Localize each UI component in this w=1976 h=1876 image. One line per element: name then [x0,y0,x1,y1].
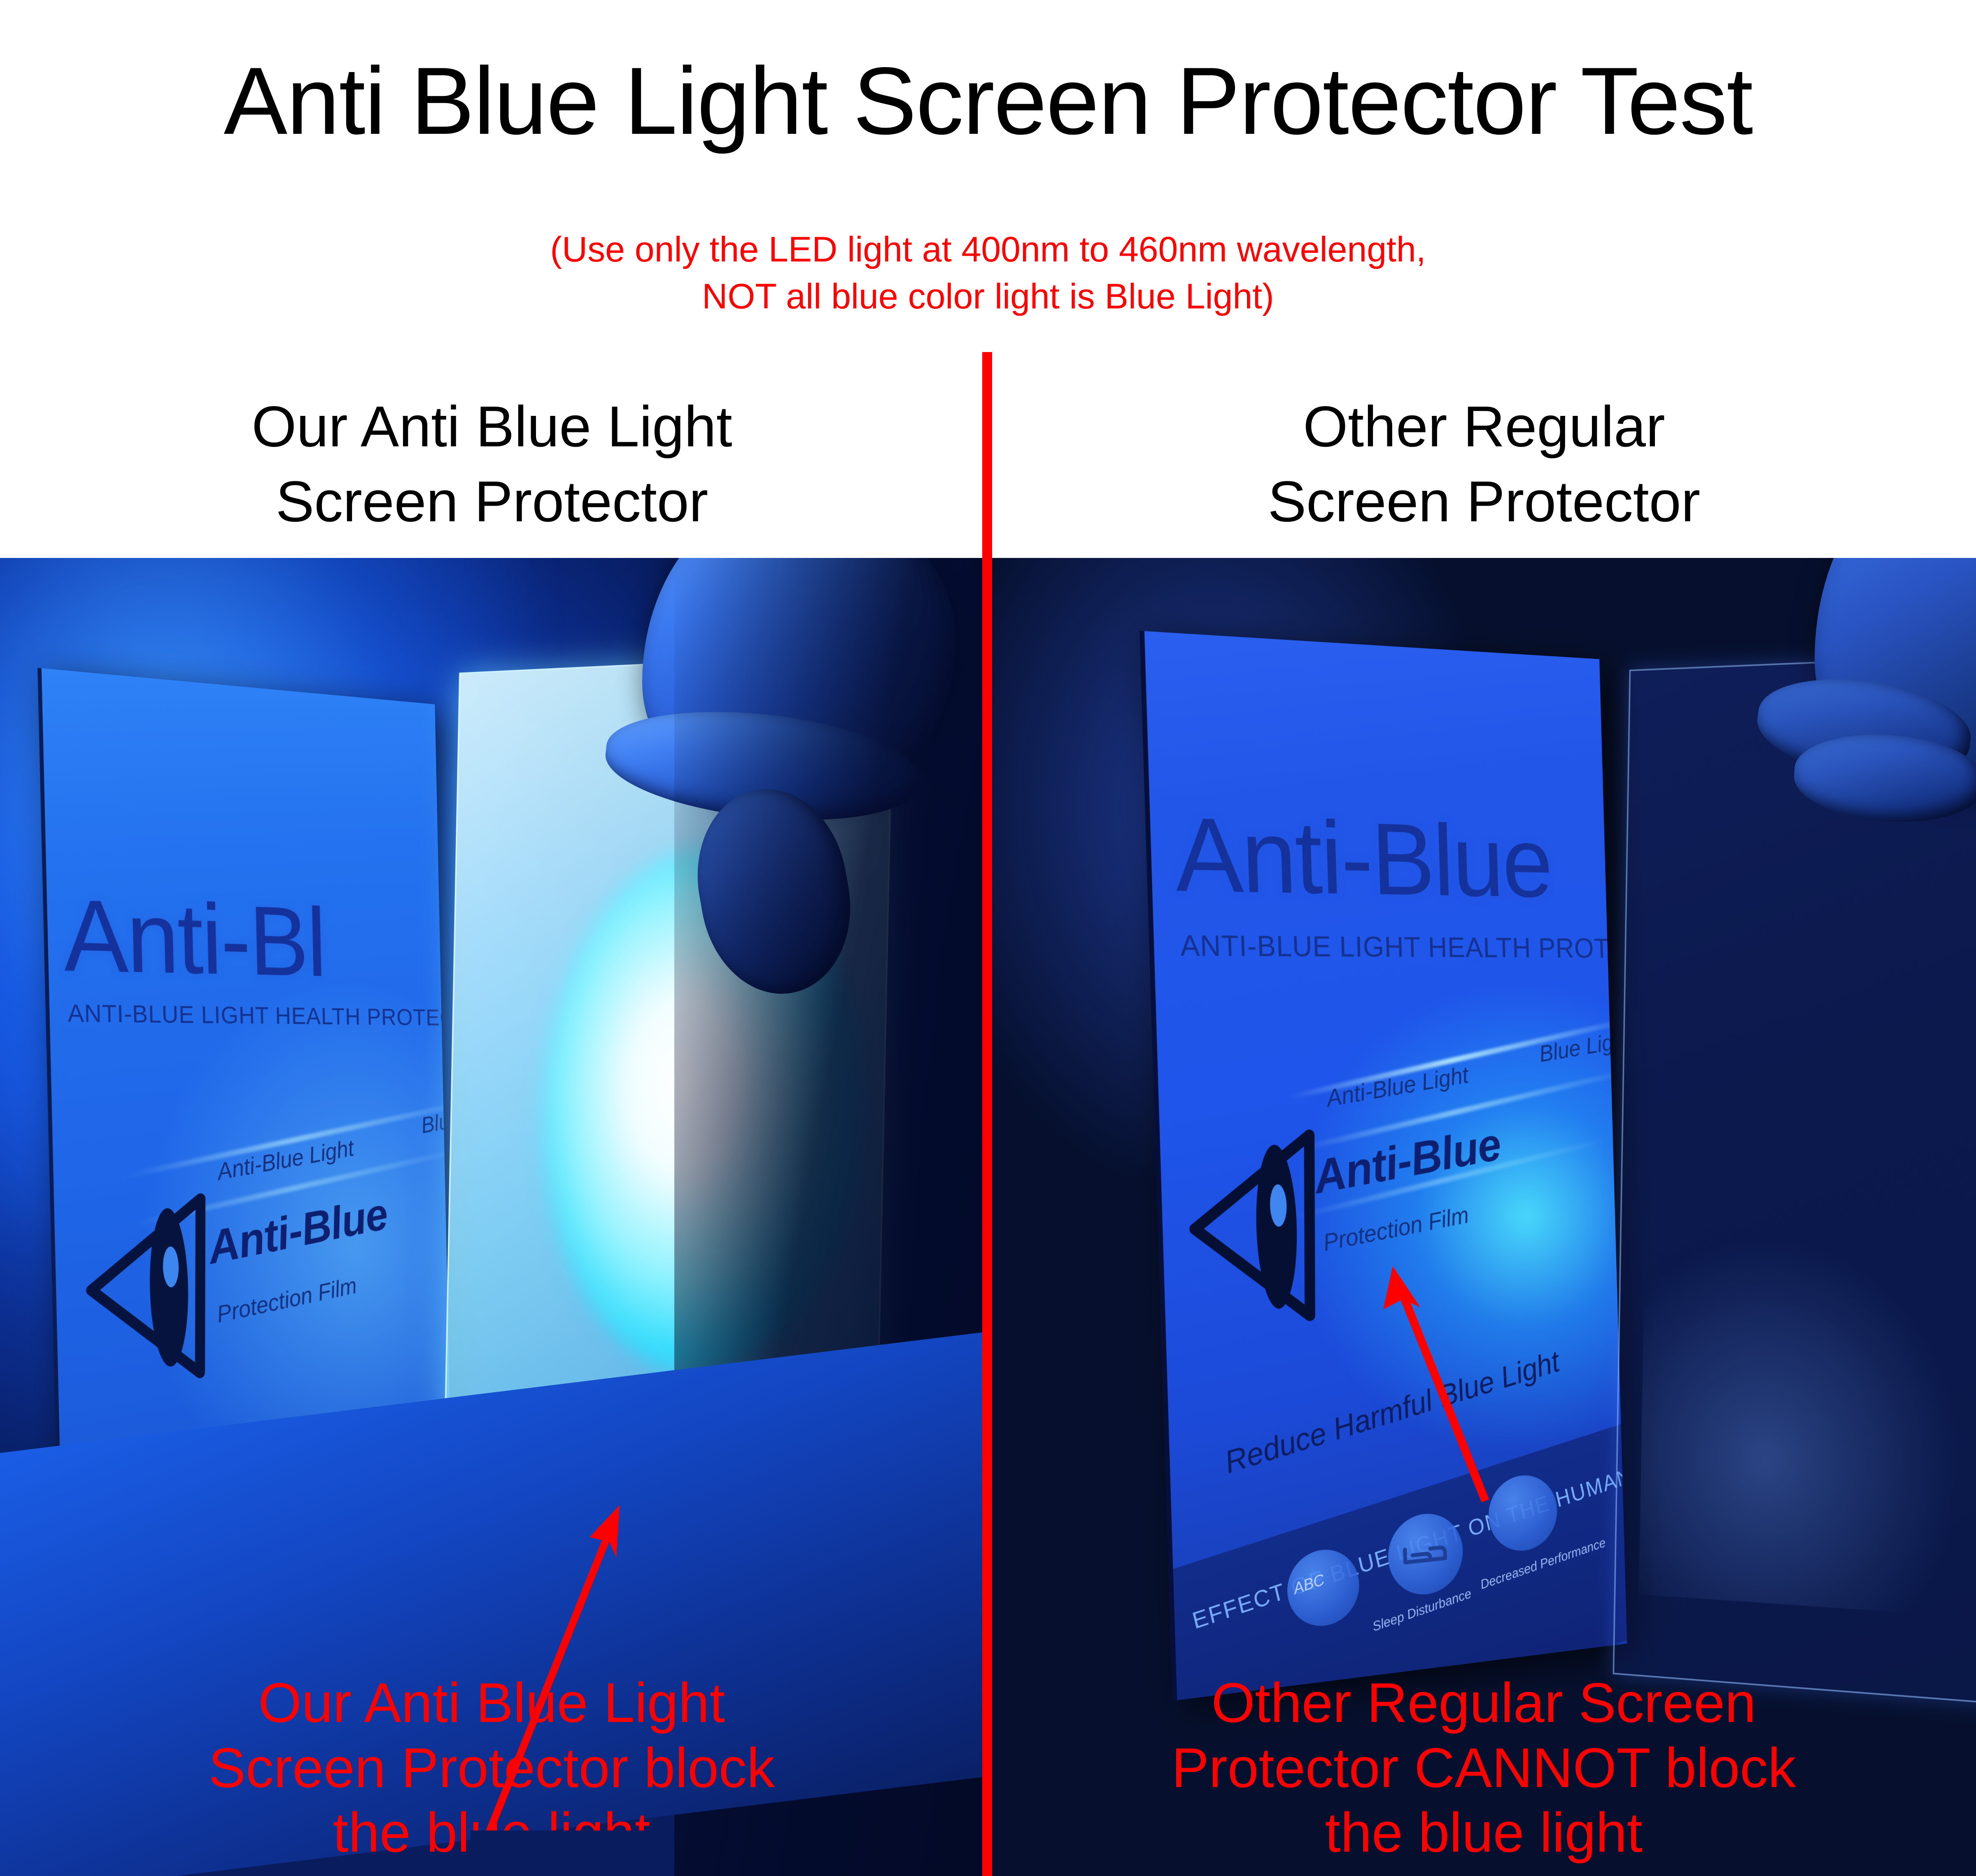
caption-left-line-2: Screen Protector block [2,1736,981,1801]
caption-right-line-1: Other Regular Screen [994,1671,1974,1736]
caption-left: Our Anti Blue Light Screen Protector blo… [2,1671,981,1865]
subtitle-line-1: (Use only the LED light at 400nm to 460n… [0,226,1976,273]
subtitle-note: (Use only the LED light at 400nm to 460n… [0,226,1976,320]
caption-right: Other Regular Screen Protector CANNOT bl… [994,1671,1974,1865]
column-heading-left-line-1: Our Anti Blue Light [0,389,984,464]
caption-right-line-3: the blue light [994,1800,1974,1865]
column-heading-right-line-2: Screen Protector [992,464,1976,539]
vertical-divider [982,352,992,1876]
page-title: Anti Blue Light Screen Protector Test [0,54,1976,149]
column-heading-right-line-1: Other Regular [992,389,1976,464]
caption-right-line-2: Protector CANNOT block [994,1736,1974,1801]
caption-left-line-3: the blue light [2,1800,981,1865]
caption-left-line-1: Our Anti Blue Light [2,1671,981,1736]
column-heading-left-line-2: Screen Protector [0,464,984,539]
subtitle-line-2: NOT all blue color light is Blue Light) [0,273,1976,320]
column-heading-right: Other Regular Screen Protector [992,389,1976,539]
column-heading-left: Our Anti Blue Light Screen Protector [0,389,984,539]
